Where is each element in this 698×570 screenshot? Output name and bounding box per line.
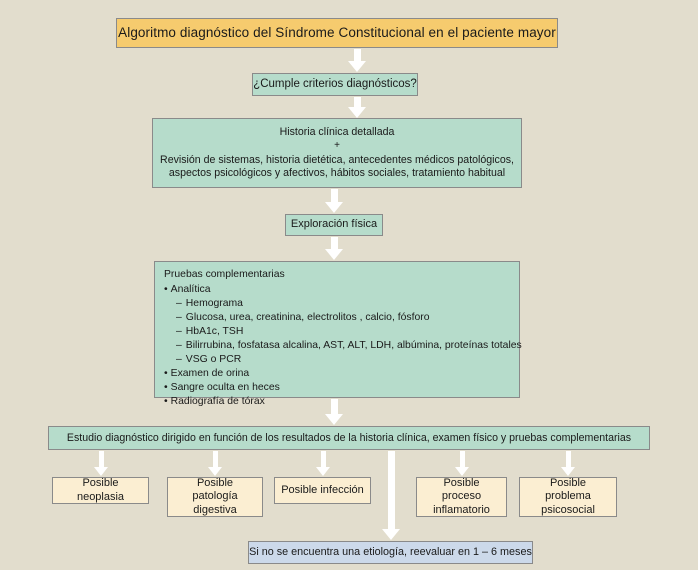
arrow-title-to-criteria <box>348 49 366 72</box>
tests-heading: Pruebas complementarias <box>164 269 285 282</box>
tests-item: VSG o PCR <box>164 353 519 367</box>
flowchart-canvas: Algoritmo diagnóstico del Síndrome Const… <box>0 0 698 570</box>
exploration-text: Exploración física <box>291 218 377 231</box>
branch-label-line-1: Posible problema <box>526 477 610 504</box>
arrow-head <box>348 61 366 72</box>
arrow-shaft <box>388 451 395 529</box>
diagram-title-box: Algoritmo diagnóstico del Síndrome Const… <box>116 18 558 48</box>
complementary-tests-box: Pruebas complementarias Analítica Hemogr… <box>154 261 520 398</box>
arrow-shaft <box>460 451 465 467</box>
branch-label-line-1: Posible infección <box>281 484 364 497</box>
arrow-shaft <box>331 237 338 249</box>
tests-list: Analítica Hemograma Glucosa, urea, creat… <box>164 283 519 408</box>
arrow-criteria-to-history <box>348 97 366 118</box>
tests-item: Examen de orina <box>164 367 519 381</box>
branch-label-line-1: Posible neoplasia <box>59 477 142 504</box>
tests-item: HbA1c, TSH <box>164 325 519 339</box>
tests-item: Hemograma <box>164 297 519 311</box>
tests-item: Analítica <box>164 283 519 297</box>
arrow-shaft <box>321 451 326 467</box>
branch-label-line-1: Posible patología <box>174 477 256 504</box>
arrow-tests-to-study <box>325 399 343 425</box>
reevaluation-outcome-box: Si no se encuentra una etiología, reeval… <box>248 541 533 564</box>
tests-item: Glucosa, urea, creatinina, electrolitos … <box>164 311 519 325</box>
history-line-2: aspectos psicológicos y afectivos, hábit… <box>169 167 505 180</box>
arrow-study-to-branch-4 <box>455 451 469 476</box>
arrow-study-to-outcome <box>382 451 400 540</box>
branch-box-possible-infection: Posible infección <box>274 477 371 504</box>
branch-label-line-2: psicosocial <box>541 504 595 517</box>
branch-box-possible-inflammatory-process: Posible proceso inflamatorio <box>416 477 507 517</box>
arrow-shaft <box>354 49 361 61</box>
history-box: Historia clínica detallada + Revisión de… <box>152 118 522 188</box>
branch-label-line-2: digestiva <box>193 504 236 517</box>
arrow-study-to-branch-3 <box>316 451 330 476</box>
arrow-head <box>455 467 469 476</box>
diagram-title-text: Algoritmo diagnóstico del Síndrome Const… <box>118 25 556 41</box>
arrow-head <box>208 467 222 476</box>
arrow-shaft <box>331 399 338 414</box>
history-plus: + <box>334 140 340 152</box>
branch-box-possible-digestive-pathology: Posible patología digestiva <box>167 477 263 517</box>
arrow-history-to-exploration <box>325 189 343 213</box>
criteria-text: ¿Cumple criterios diagnósticos? <box>253 77 417 91</box>
criteria-box: ¿Cumple criterios diagnósticos? <box>252 73 418 96</box>
arrow-head <box>561 467 575 476</box>
arrow-head <box>325 414 343 425</box>
branch-label-line-1: Posible proceso <box>423 477 500 504</box>
exploration-box: Exploración física <box>285 214 383 236</box>
branch-label-line-2: inflamatorio <box>433 504 490 517</box>
arrow-study-to-branch-5 <box>561 451 575 476</box>
arrow-shaft <box>354 97 361 107</box>
arrow-shaft <box>331 189 338 202</box>
arrow-head <box>316 467 330 476</box>
history-heading: Historia clínica detallada <box>280 126 395 139</box>
arrow-shaft <box>566 451 571 467</box>
arrow-head <box>325 249 343 260</box>
tests-item: Bilirrubina, fosfatasa alcalina, AST, AL… <box>164 339 519 353</box>
arrow-study-to-branch-1 <box>94 451 108 476</box>
arrow-exploration-to-tests <box>325 237 343 260</box>
reevaluation-outcome-text: Si no se encuentra una etiología, reeval… <box>249 546 532 559</box>
tests-item: Sangre oculta en heces <box>164 381 519 395</box>
history-line-1: Revisión de sistemas, historia dietética… <box>160 154 514 167</box>
directed-study-text: Estudio diagnóstico dirigido en función … <box>67 432 631 445</box>
directed-study-box: Estudio diagnóstico dirigido en función … <box>48 426 650 450</box>
arrow-head <box>325 202 343 213</box>
arrow-head <box>94 467 108 476</box>
arrow-head <box>348 107 366 118</box>
arrow-head <box>382 529 400 540</box>
arrow-study-to-branch-2 <box>208 451 222 476</box>
branch-box-possible-neoplasia: Posible neoplasia <box>52 477 149 504</box>
arrow-shaft <box>213 451 218 467</box>
arrow-shaft <box>99 451 104 467</box>
branch-box-possible-psychosocial-problem: Posible problema psicosocial <box>519 477 617 517</box>
